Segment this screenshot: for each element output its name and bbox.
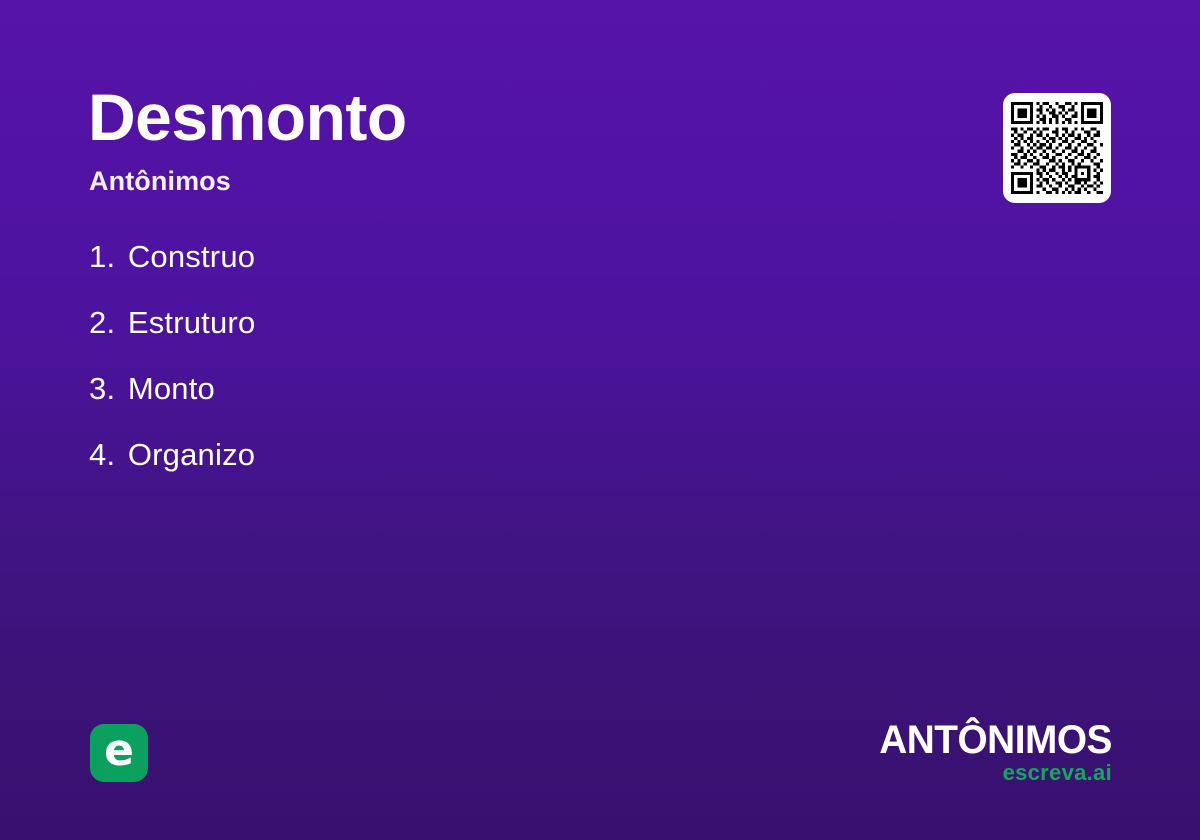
antonyms-list: 1. Construo 2. Estruturo 3. Monto 4. Org…	[89, 237, 255, 501]
page-subtitle: Antônimos	[89, 168, 231, 195]
list-item-word: Organizo	[128, 435, 255, 475]
list-item: 1. Construo	[89, 237, 255, 303]
brand-wordmark-domain: escreva.ai	[872, 761, 1112, 785]
brand-wordmark: ANTÔNIMOS escreva.ai	[872, 720, 1112, 785]
antonyms-card: Desmonto Antônimos 1. Construo 2. Estrut…	[0, 0, 1200, 840]
list-item-index: 2.	[89, 303, 119, 343]
list-item: 4. Organizo	[89, 435, 255, 501]
list-item-index: 3.	[89, 369, 119, 409]
qr-code-icon[interactable]	[1003, 93, 1111, 203]
list-item-word: Estruturo	[128, 303, 256, 343]
list-item-index: 4.	[89, 435, 119, 475]
list-item-index: 1.	[89, 237, 119, 277]
page-title: Desmonto	[88, 84, 407, 150]
list-item: 2. Estruturo	[89, 303, 255, 369]
list-item: 3. Monto	[89, 369, 255, 435]
list-item-word: Construo	[128, 237, 255, 277]
brand-badge-letter: e	[104, 729, 134, 773]
list-item-word: Monto	[128, 369, 215, 409]
brand-wordmark-title: ANTÔNIMOS	[879, 720, 1112, 760]
escreva-e-logo-icon[interactable]: e	[90, 724, 148, 782]
